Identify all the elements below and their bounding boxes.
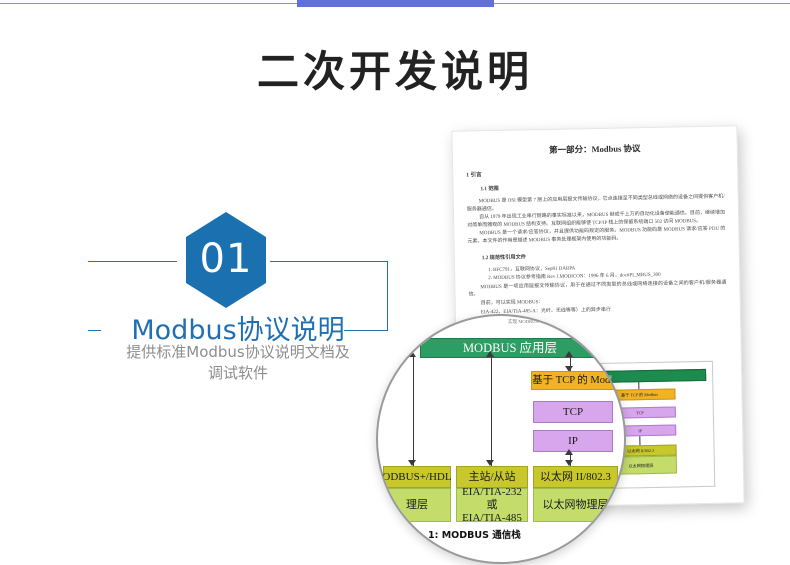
top-accent-bar [297, 0, 494, 7]
lens-ip-box: IP [533, 430, 613, 452]
document-section-1-heading: 1 引言 [466, 166, 724, 179]
page-title: 二次开发说明 [0, 38, 790, 99]
lens-arrowhead-left-up [408, 351, 416, 357]
feature-description-line-1: 提供标准Modbus协议说明文档及 [83, 342, 393, 363]
lens-bg-text-right: EIA-422、EIA/TIA-485 [571, 330, 617, 336]
lens-arrowhead-right-up-bottom [565, 449, 573, 455]
lens-connector-left [413, 356, 414, 466]
feature-number-badge: 01 [186, 212, 266, 308]
feature-number-label: 01 [186, 212, 266, 308]
lens-arrowhead-right-up [565, 351, 573, 357]
lens-ethernet-box: 以太网 II/802.3 [533, 466, 618, 488]
doc-diagram-arrow-right-top [638, 382, 639, 389]
magnifier-lens: 实现 MODBUS: EIA-422、EIA/TIA-485 MODBUS 应用… [376, 314, 626, 564]
lens-app-layer-box: MODBUS 应用层 [420, 338, 600, 358]
page-root: 二次开发说明 01 Modbus协议说明 提供标准Modbus协议说明文档及 调… [0, 0, 790, 565]
lens-ethernet-phy-box: 以太网物理层 [533, 488, 618, 522]
lens-phy-layer-box: 理层 [383, 488, 451, 522]
feature-description-line-2: 调试软件 [83, 363, 393, 384]
feature-description: 提供标准Modbus协议说明文档及 调试软件 [83, 342, 393, 384]
bracket-right-top-line [270, 261, 388, 262]
lens-connector-mid [491, 356, 492, 466]
lens-modbus-tcp-box: 基于 TCP 的 Modbus [531, 371, 626, 390]
doc-diagram-arrow-right-bottom [639, 436, 640, 445]
lens-tcp-box: TCP [533, 401, 613, 423]
feature-block: 01 Modbus协议说明 提供标准Modbus协议说明文档及 调试软件 [88, 212, 388, 402]
lens-arrowhead-mid-up [486, 351, 494, 357]
lens-bg-text-top: 实现 MODBUS: [508, 319, 539, 325]
magnifier-content: 实现 MODBUS: EIA-422、EIA/TIA-485 MODBUS 应用… [378, 316, 626, 564]
bracket-left-top-line [88, 261, 177, 262]
lens-caption: 1: MODBUS 通信栈 [428, 527, 521, 541]
document-section-1-1-heading: 1.1 范围 [480, 181, 724, 193]
lens-eia-line-1: EIA/TIA-232 或 [457, 486, 527, 512]
lens-modbus-plus-hdl-box: ODBUS+/HDL [383, 466, 451, 488]
document-title: 第一部分：Modbus 协议 [466, 141, 724, 158]
lens-eia-box: EIA/TIA-232 或 EIA/TIA-485 [456, 488, 528, 522]
lens-eia-line-2: EIA/TIA-485 [462, 512, 522, 525]
